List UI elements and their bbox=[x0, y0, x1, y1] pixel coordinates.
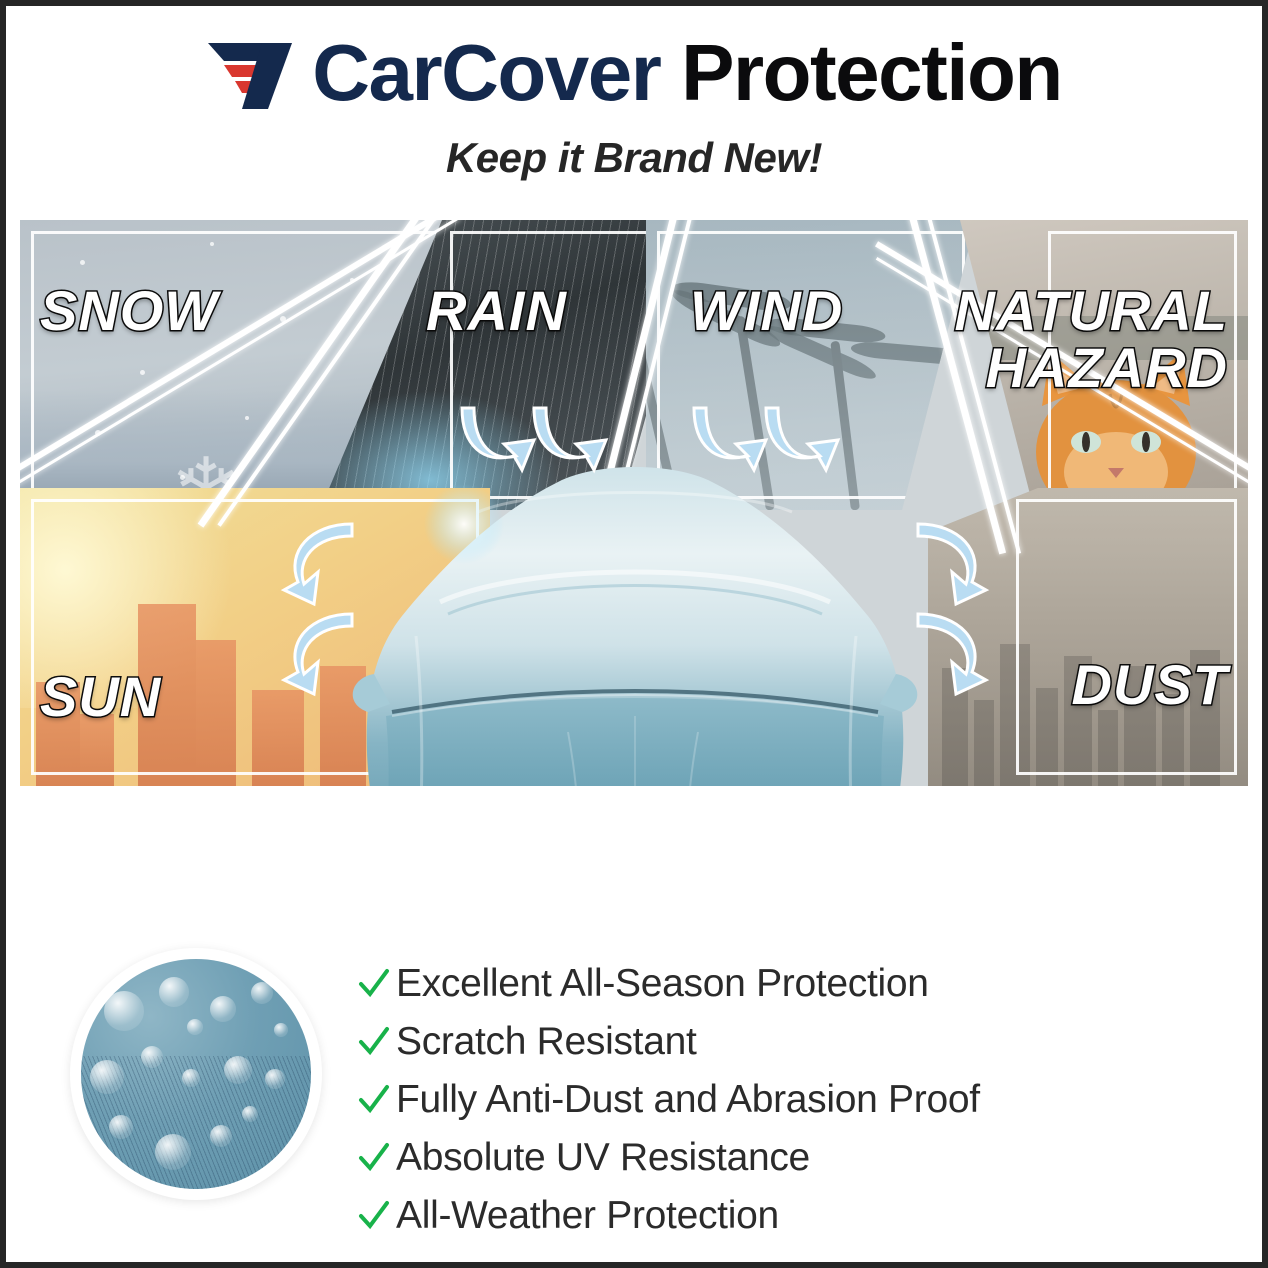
feature-label: Scratch Resistant bbox=[396, 1020, 697, 1064]
label-dust: DUST bbox=[1072, 656, 1228, 713]
label-wind: WIND bbox=[690, 282, 843, 339]
label-natural-hazard: NATURAL HAZARD bbox=[955, 282, 1228, 396]
deflection-arrows-left bbox=[256, 520, 386, 720]
brand-lockup: CarCover Protection bbox=[6, 6, 1262, 114]
green-check-icon bbox=[352, 1141, 396, 1175]
covered-car-icon bbox=[328, 416, 942, 786]
brand-title: CarCover Protection bbox=[312, 33, 1062, 113]
feature-label: Fully Anti-Dust and Abrasion Proof bbox=[396, 1078, 980, 1122]
green-check-icon bbox=[352, 1025, 396, 1059]
product-infographic: CarCover Protection Keep it Brand New! ❄ bbox=[0, 0, 1268, 1268]
brand-word-carcover: CarCover bbox=[312, 28, 660, 117]
brand-word-protection: Protection bbox=[681, 28, 1062, 117]
water-beading-swatch bbox=[70, 948, 322, 1200]
features-list: Excellent All-Season Protection Scratch … bbox=[352, 958, 1192, 1248]
list-item: Excellent All-Season Protection bbox=[352, 958, 1192, 1010]
list-item: Absolute UV Resistance bbox=[352, 1132, 1192, 1184]
swatch-image bbox=[81, 959, 311, 1189]
brand-suffix: Cover bbox=[441, 28, 660, 117]
deflection-arrows-top-right bbox=[692, 402, 842, 482]
label-sun: SUN bbox=[40, 668, 161, 725]
green-check-icon bbox=[352, 967, 396, 1001]
feature-label: Absolute UV Resistance bbox=[396, 1136, 810, 1180]
list-item: Fully Anti-Dust and Abrasion Proof bbox=[352, 1074, 1192, 1126]
list-item: Scratch Resistant bbox=[352, 1016, 1192, 1068]
green-check-icon bbox=[352, 1083, 396, 1117]
feature-label: All-Weather Protection bbox=[396, 1194, 779, 1238]
features-section: Excellent All-Season Protection Scratch … bbox=[6, 800, 1262, 1260]
green-check-icon bbox=[352, 1199, 396, 1233]
tagline: Keep it Brand New! bbox=[6, 134, 1262, 182]
brand-prefix: Car bbox=[312, 28, 441, 117]
label-rain: RAIN bbox=[426, 282, 567, 339]
icarcover-wing-logo-icon bbox=[206, 39, 310, 111]
label-snow: SNOW bbox=[40, 282, 218, 339]
deflection-arrows-right bbox=[884, 520, 1014, 720]
feature-label: Excellent All-Season Protection bbox=[396, 962, 929, 1006]
deflection-arrows-top-left bbox=[460, 402, 610, 482]
header: CarCover Protection Keep it Brand New! bbox=[6, 6, 1262, 206]
list-item: All-Weather Protection bbox=[352, 1190, 1192, 1242]
